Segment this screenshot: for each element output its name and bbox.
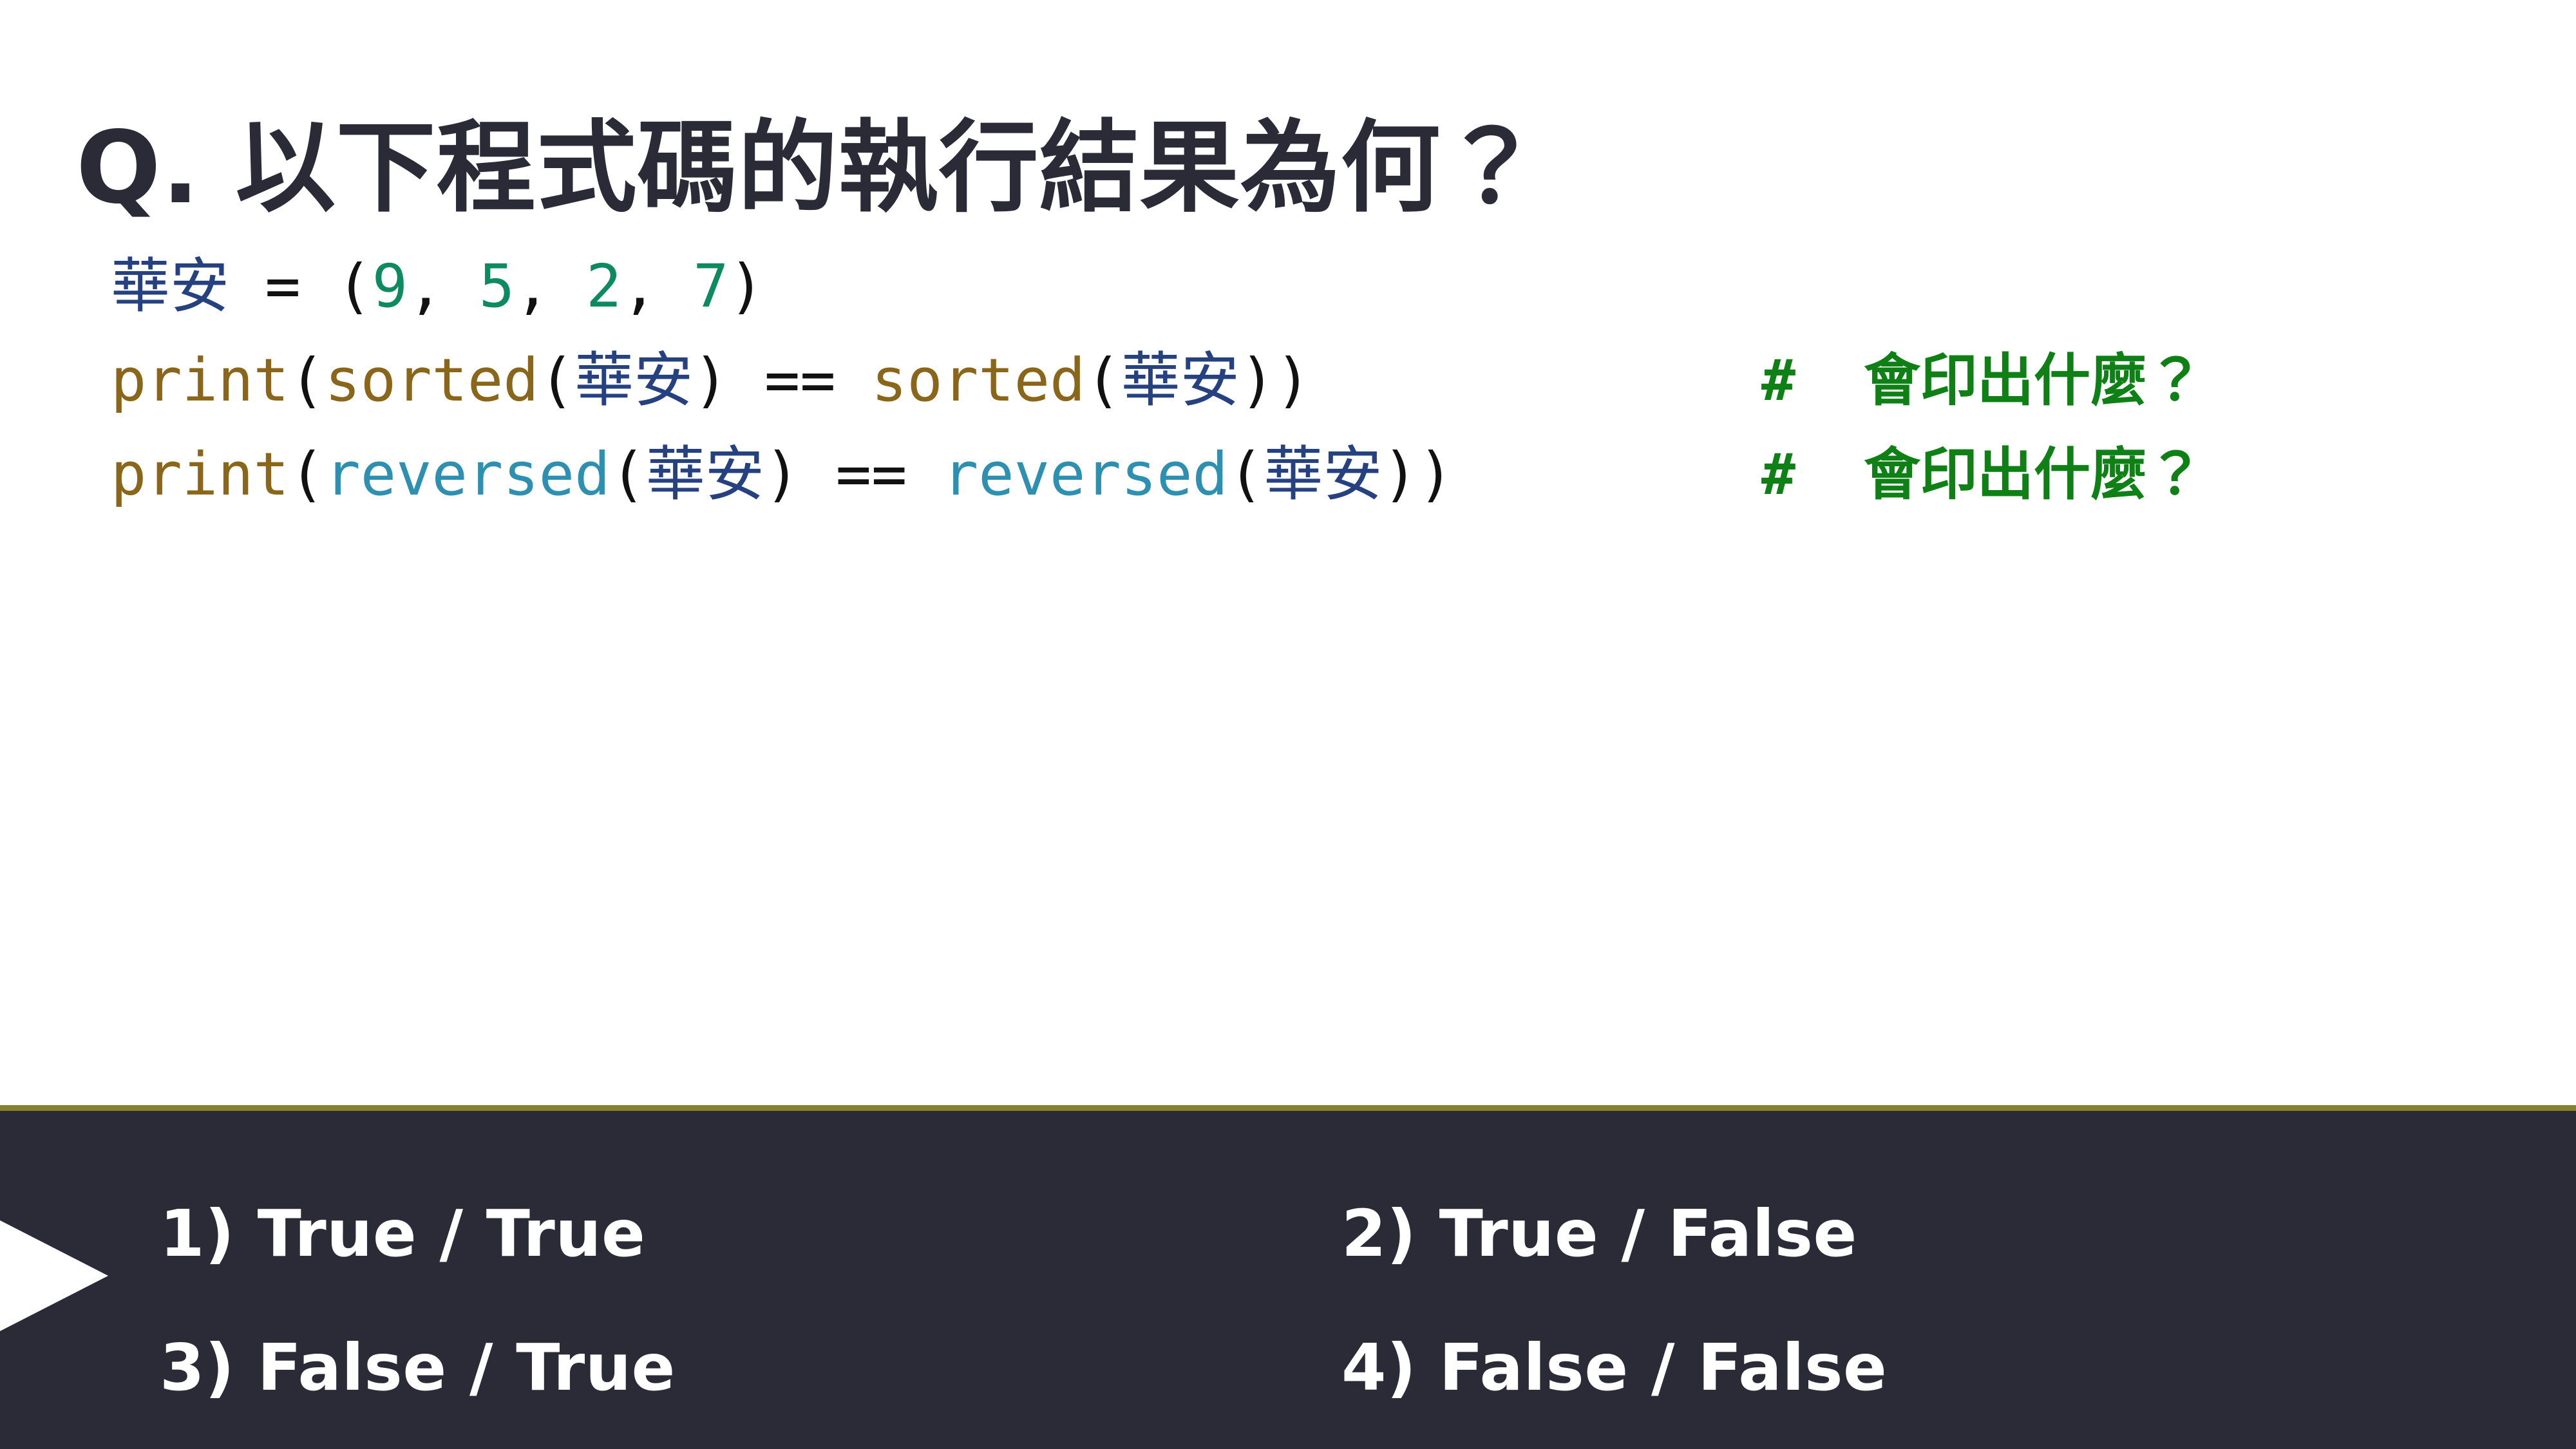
code-token-punct: ( (1085, 346, 1121, 415)
answer-options-grid: 1) True / True2) True / False3) False / … (0, 1111, 2576, 1449)
code-token-punct: ( (1228, 440, 1264, 509)
code-line: print(sorted(華安) == sorted(華安))# 會印出什麼？ (111, 334, 1454, 428)
code-token-punct: ( (289, 346, 325, 415)
code-token-punct: ( (336, 252, 372, 321)
code-token-var: 華安 (646, 440, 764, 509)
answer-bar: 1) True / True2) True / False3) False / … (0, 1105, 2576, 1449)
code-token-num: 7 (693, 252, 728, 321)
code-token-builtin: print (111, 346, 289, 415)
code-token-punct: ) (693, 346, 728, 415)
code-token-iter: reversed (943, 440, 1228, 509)
code-token-iter: reversed (325, 440, 610, 509)
code-line: 華安 = (9, 5, 2, 7) (111, 240, 1454, 334)
code-token-punct: ( (610, 440, 645, 509)
code-token-num: 5 (479, 252, 515, 321)
code-token-builtin: print (111, 440, 289, 509)
code-token-punct: ( (539, 346, 574, 415)
code-token-punct: ) (1275, 346, 1311, 415)
code-token-op: == (728, 346, 871, 415)
code-token-op: == (800, 440, 943, 509)
code-token-punct: , (515, 252, 586, 321)
code-token-punct: , (621, 252, 693, 321)
code-token-builtin: sorted (325, 346, 538, 415)
code-token-punct: , (408, 252, 479, 321)
code-token-punct: ) (728, 252, 764, 321)
code-token-op: = (229, 252, 336, 321)
code-token-punct: ) (1418, 440, 1454, 509)
code-token-var: 華安 (574, 346, 693, 415)
answer-option-2[interactable]: 2) True / False (1341, 1196, 1857, 1271)
code-token-num: 9 (372, 252, 408, 321)
code-token-var: 華安 (1264, 440, 1382, 509)
code-token-var: 華安 (1121, 346, 1240, 415)
code-token-punct: ) (1382, 440, 1417, 509)
page-title: Q. 以下程式碼的執行結果為何？ (76, 111, 1542, 225)
code-token-punct: ( (289, 440, 325, 509)
answer-option-3[interactable]: 3) False / True (160, 1330, 676, 1405)
code-token-builtin: sorted (871, 346, 1085, 415)
answer-option-1[interactable]: 1) True / True (160, 1196, 645, 1271)
answer-option-4[interactable]: 4) False / False (1341, 1330, 1887, 1405)
code-token-var: 華安 (111, 252, 229, 321)
code-token-punct: ) (1240, 346, 1275, 415)
code-token-num: 2 (586, 252, 621, 321)
code-comment: # 會印出什麼？ (1761, 428, 2204, 522)
slide-canvas: Q. 以下程式碼的執行結果為何？ 華安 = (9, 5, 2, 7)print(… (0, 0, 2576, 1449)
code-line: print(reversed(華安) == reversed(華安))# 會印出… (111, 428, 1454, 522)
code-comment: # 會印出什麼？ (1761, 334, 2204, 428)
code-token-punct: ) (764, 440, 800, 509)
code-block: 華安 = (9, 5, 2, 7)print(sorted(華安) == sor… (111, 240, 1454, 522)
